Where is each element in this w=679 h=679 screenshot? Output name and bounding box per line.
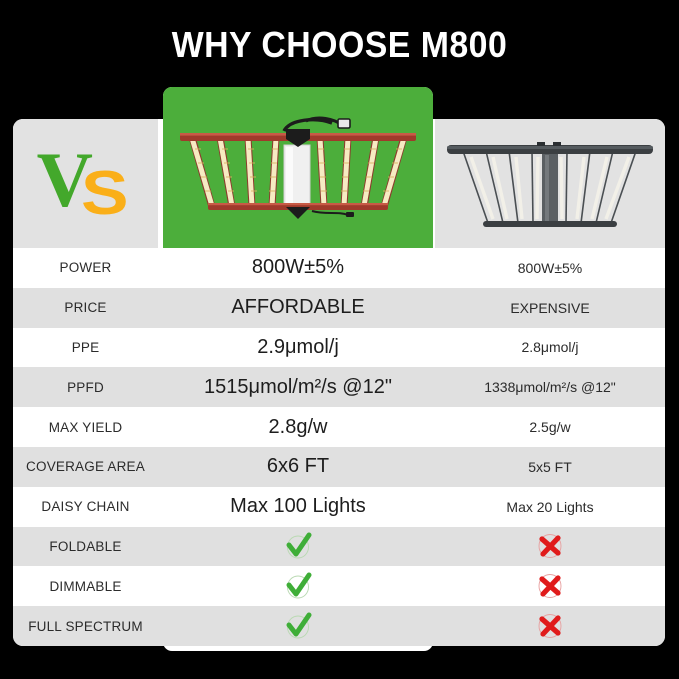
feature-label: DAISY CHAIN xyxy=(13,487,158,527)
highlight-product-panel xyxy=(163,87,433,248)
feature-label: PPFD xyxy=(13,367,158,407)
m800-value: 800W±5% xyxy=(163,248,433,288)
cross-mark-icon xyxy=(535,612,565,640)
m800-value: AFFORDABLE xyxy=(163,288,433,328)
feature-label: COVERAGE AREA xyxy=(13,447,158,487)
m800-value xyxy=(163,606,433,646)
highlight-column-m800: 800W±5% AFFORDABLE 2.9μmol/j 1515μmol/m²… xyxy=(163,87,433,651)
check-mark-icon xyxy=(283,532,313,560)
feature-label: DIMMABLE xyxy=(13,566,158,606)
cross-mark-icon xyxy=(535,532,565,560)
feature-label: PPE xyxy=(13,328,158,368)
feature-label: PRICE xyxy=(13,288,158,328)
vs-logo: VS xyxy=(13,119,158,248)
vs-logo-s: S xyxy=(81,163,129,225)
competitor-value: 1338μmol/m²/s @12" xyxy=(435,367,665,407)
check-mark-icon xyxy=(283,572,313,600)
page-title: WHY CHOOSE M800 xyxy=(20,24,658,66)
competitor-value: 2.8μmol/j xyxy=(435,328,665,368)
feature-label: FOLDABLE xyxy=(13,527,158,567)
competitor-value xyxy=(435,566,665,606)
m800-value: 1515μmol/m²/s @12" xyxy=(163,367,433,407)
competitor-value: 800W±5% xyxy=(435,248,665,288)
header-cell-competitor xyxy=(435,119,665,248)
competitor-value xyxy=(435,527,665,567)
m800-value xyxy=(163,566,433,606)
m800-value: 2.8g/w xyxy=(163,407,433,447)
competitor-value: 5x5 FT xyxy=(435,447,665,487)
m800-value: 6x6 FT xyxy=(163,447,433,487)
competitor-value: EXPENSIVE xyxy=(435,288,665,328)
led-grow-light-competitor-icon xyxy=(441,137,659,237)
feature-label: POWER xyxy=(13,248,158,288)
m800-value: 2.9μmol/j xyxy=(163,328,433,368)
competitor-value: 2.5g/w xyxy=(435,407,665,447)
m800-value: Max 100 Lights xyxy=(163,487,433,527)
header-cell-feature: VS xyxy=(13,119,158,248)
comparison-infographic: WHY CHOOSE M800 VS xyxy=(0,0,679,679)
cross-mark-icon xyxy=(535,572,565,600)
competitor-value: Max 20 Lights xyxy=(435,487,665,527)
highlight-values: 800W±5% AFFORDABLE 2.9μmol/j 1515μmol/m²… xyxy=(163,248,433,646)
check-mark-icon xyxy=(283,612,313,640)
led-grow-light-m800-icon xyxy=(166,111,430,229)
m800-value xyxy=(163,527,433,567)
competitor-value xyxy=(435,606,665,646)
feature-label: FULL SPECTRUM xyxy=(13,606,158,646)
feature-label: MAX YIELD xyxy=(13,407,158,447)
